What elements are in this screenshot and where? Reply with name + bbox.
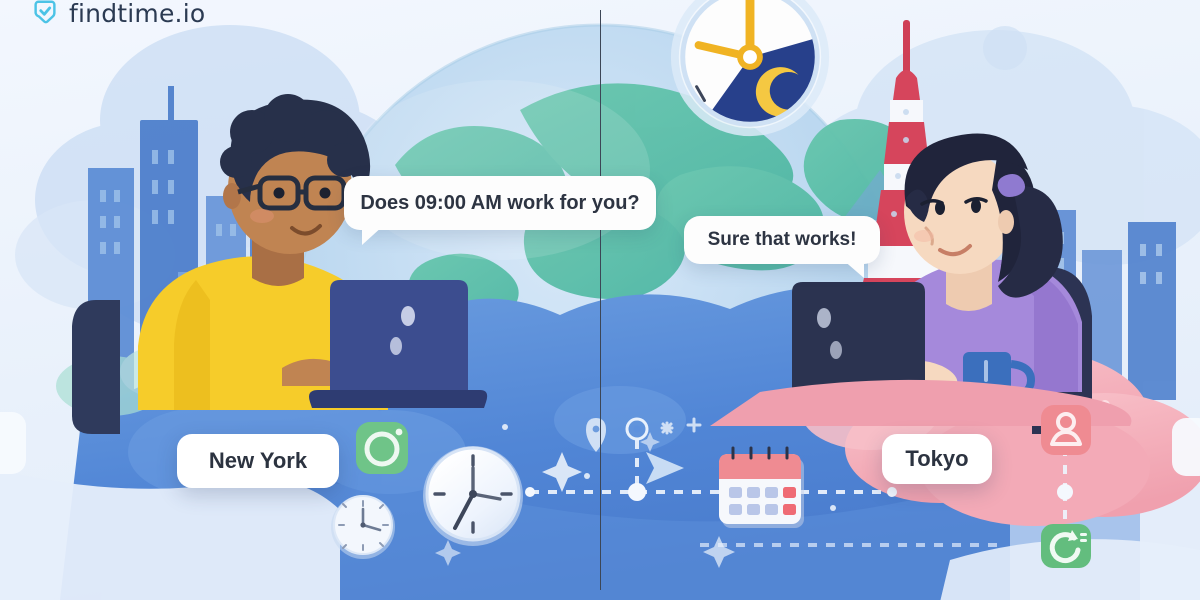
speech-bubble-tokyo: Sure that works! bbox=[684, 216, 880, 264]
calendar-icon bbox=[719, 448, 804, 528]
speech-bubble-new-york: Does 09:00 AM work for you? bbox=[344, 176, 656, 230]
city-pill-tokyo[interactable]: Tokyo bbox=[882, 434, 992, 484]
illustration-canvas: findtime.io Does 09:00 AM work for you? … bbox=[0, 0, 1200, 600]
timezone-card-divider bbox=[600, 10, 601, 590]
offscreen-card-right bbox=[1172, 418, 1200, 476]
bubble-tail bbox=[362, 225, 384, 245]
city-pill-label: New York bbox=[209, 448, 307, 474]
analog-clock-icon bbox=[423, 446, 523, 546]
laptop-new-york bbox=[309, 280, 487, 408]
speech-bubble-text: Sure that works! bbox=[708, 229, 857, 251]
brand-logo[interactable]: findtime.io bbox=[30, 0, 205, 28]
city-pill-new-york[interactable]: New York bbox=[177, 434, 339, 488]
shield-check-icon bbox=[30, 0, 60, 28]
day-night-clock-icon bbox=[661, 0, 839, 146]
refresh-icon bbox=[1041, 524, 1091, 568]
camera-icon bbox=[356, 422, 408, 474]
speech-bubble-text: Does 09:00 AM work for you? bbox=[360, 192, 639, 215]
brand-wordmark: findtime.io bbox=[69, 0, 205, 28]
city-pill-label: Tokyo bbox=[905, 446, 968, 472]
clock-icon bbox=[331, 495, 395, 559]
contacts-icon bbox=[1041, 405, 1091, 455]
offscreen-card-left bbox=[0, 412, 26, 474]
bubble-tail bbox=[842, 259, 864, 278]
